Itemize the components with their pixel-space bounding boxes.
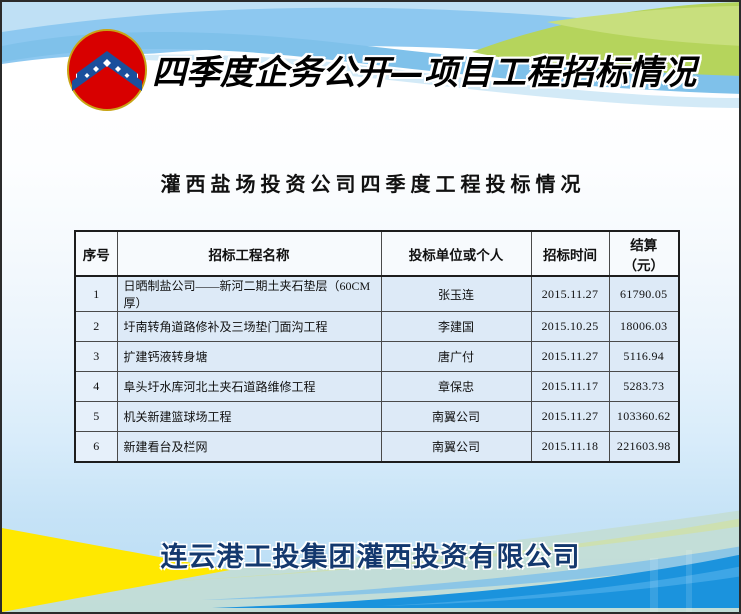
cell-index: 1	[75, 276, 117, 312]
cell-index: 5	[75, 402, 117, 432]
cell-bidder: 南翼公司	[381, 432, 531, 463]
cell-date: 2015.11.18	[531, 432, 609, 463]
table-row: 4 阜头圩水库河北土夹石道路维修工程 章保忠 2015.11.17 5283.7…	[75, 372, 679, 402]
cell-date: 2015.10.25	[531, 312, 609, 342]
table-row: 2 圩南转角道路修补及三场垫门面沟工程 李建国 2015.10.25 18006…	[75, 312, 679, 342]
top-left-yellow-sliver	[2, 2, 120, 30]
emblem-red-disc	[68, 30, 146, 110]
cell-bidder: 南翼公司	[381, 402, 531, 432]
cell-bidder: 张玉连	[381, 276, 531, 312]
cell-amount: 221603.98	[609, 432, 679, 463]
cell-name: 圩南转角道路修补及三场垫门面沟工程	[117, 312, 381, 342]
cell-name: 扩建钙液转身塘	[117, 342, 381, 372]
table-row: 6 新建看台及栏网 南翼公司 2015.11.18 221603.98	[75, 432, 679, 463]
cell-bidder: 李建国	[381, 312, 531, 342]
cell-amount: 103360.62	[609, 402, 679, 432]
table-row: 3 扩建钙液转身塘 唐广付 2015.11.27 5116.94	[75, 342, 679, 372]
cell-name: 机关新建篮球场工程	[117, 402, 381, 432]
table-subtitle: 灌西盐场投资公司四季度工程投标情况	[2, 168, 739, 197]
table-header-row: 序号 招标工程名称 投标单位或个人 招标时间 结算（元）	[75, 231, 679, 276]
column-header-date: 招标时间	[531, 231, 609, 276]
top-green-highlight	[547, 6, 741, 46]
column-header-amount: 结算（元）	[609, 231, 679, 276]
cell-amount: 18006.03	[609, 312, 679, 342]
poster-canvas: 四季度企务公开—项目工程招标情况 灌西盐场投资公司四季度工程投标情况 序号 招标…	[0, 0, 741, 614]
column-header-index: 序号	[75, 231, 117, 276]
bid-table: 序号 招标工程名称 投标单位或个人 招标时间 结算（元） 1 日晒制盐公司——新…	[74, 230, 680, 463]
cell-date: 2015.11.27	[531, 342, 609, 372]
cell-date: 2015.11.27	[531, 276, 609, 312]
cell-amount: 5116.94	[609, 342, 679, 372]
cell-date: 2015.11.27	[531, 402, 609, 432]
cell-bidder: 唐广付	[381, 342, 531, 372]
bid-table-container: 序号 招标工程名称 投标单位或个人 招标时间 结算（元） 1 日晒制盐公司——新…	[74, 230, 678, 463]
cell-amount: 5283.73	[609, 372, 679, 402]
cell-amount: 61790.05	[609, 276, 679, 312]
table-row: 5 机关新建篮球场工程 南翼公司 2015.11.27 103360.62	[75, 402, 679, 432]
column-header-name: 招标工程名称	[117, 231, 381, 276]
column-header-bidder: 投标单位或个人	[381, 231, 531, 276]
page-title: 四季度企务公开—项目工程招标情况	[152, 45, 696, 94]
cell-index: 4	[75, 372, 117, 402]
cell-name: 新建看台及栏网	[117, 432, 381, 463]
cell-date: 2015.11.17	[531, 372, 609, 402]
table-row: 1 日晒制盐公司——新河二期土夹石垫层（60CM厚） 张玉连 2015.11.2…	[75, 276, 679, 312]
cell-index: 2	[75, 312, 117, 342]
cell-index: 3	[75, 342, 117, 372]
emblem-icon	[66, 29, 148, 111]
cell-index: 6	[75, 432, 117, 463]
cell-bidder: 章保忠	[381, 372, 531, 402]
salt-company-emblem-logo	[66, 29, 148, 111]
footer-company-name: 连云港工投集团灌西投资有限公司	[2, 535, 739, 574]
cell-name: 日晒制盐公司——新河二期土夹石垫层（60CM厚）	[117, 276, 381, 312]
cell-name: 阜头圩水库河北土夹石道路维修工程	[117, 372, 381, 402]
